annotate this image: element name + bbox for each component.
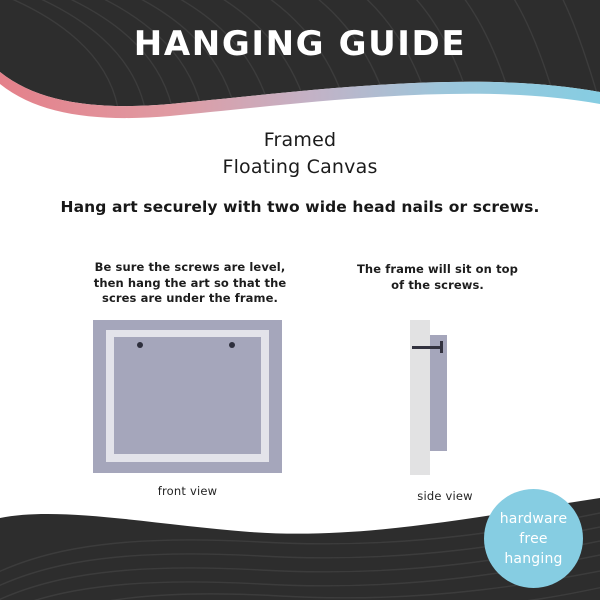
badge-line-2: free bbox=[519, 529, 547, 549]
hardware-free-hanging-badge: hardware free hanging bbox=[484, 489, 583, 588]
front-view-canvas bbox=[114, 337, 261, 454]
product-title-line-1: Framed bbox=[0, 127, 600, 154]
side-view-screw-head-icon bbox=[440, 341, 443, 353]
front-view-mat bbox=[106, 330, 269, 462]
front-view-diagram bbox=[93, 320, 282, 473]
side-view-screw-icon bbox=[412, 346, 442, 349]
badge-line-3: hanging bbox=[504, 549, 562, 569]
page-title: HANGING GUIDE bbox=[0, 24, 600, 64]
hanging-guide-page: HANGING GUIDE Framed Floating Canvas Han… bbox=[0, 0, 600, 600]
badge-line-1: hardware bbox=[500, 509, 568, 529]
front-caption-line-1: Be sure the screws are level, bbox=[80, 260, 300, 276]
side-view-diagram bbox=[410, 320, 480, 475]
header-banner: HANGING GUIDE bbox=[0, 0, 600, 120]
side-view-wall bbox=[410, 320, 430, 475]
product-title-line-2: Floating Canvas bbox=[0, 154, 600, 181]
screw-dot-left-icon bbox=[137, 342, 143, 348]
side-caption-line-2: of the screws. bbox=[345, 278, 530, 294]
side-caption-line-1: The frame will sit on top bbox=[345, 262, 530, 278]
side-view-caption: The frame will sit on top of the screws. bbox=[345, 262, 530, 293]
screw-dot-right-icon bbox=[229, 342, 235, 348]
front-caption-line-2: then hang the art so that the bbox=[80, 276, 300, 292]
front-view-caption: Be sure the screws are level, then hang … bbox=[80, 260, 300, 307]
side-view-frame bbox=[430, 335, 447, 451]
product-subtitle: Hang art securely with two wide head nai… bbox=[0, 198, 600, 216]
front-caption-line-3: scres are under the frame. bbox=[80, 291, 300, 307]
product-title: Framed Floating Canvas bbox=[0, 127, 600, 181]
